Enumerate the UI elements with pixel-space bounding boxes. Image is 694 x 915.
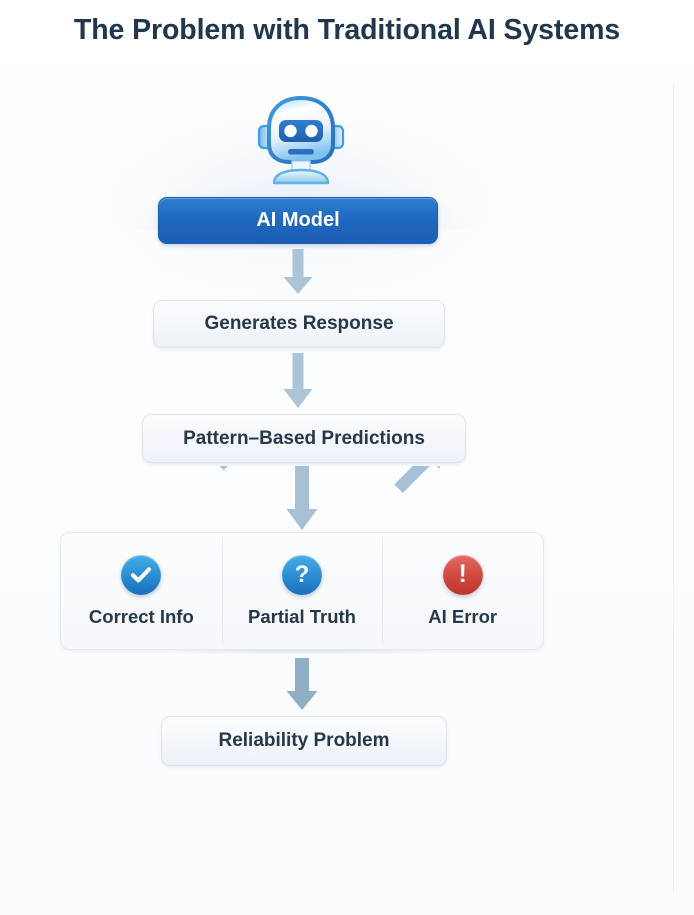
arrow-down-right-icon	[376, 466, 476, 532]
question-glyph: ?	[295, 563, 310, 587]
page-title: The Problem with Traditional AI Systems	[0, 14, 694, 47]
exclamation-circle-icon: !	[443, 555, 483, 595]
arrow-down-icon	[280, 249, 316, 296]
exclamation-glyph: !	[459, 562, 467, 587]
node-pattern-based-predictions[interactable]: Pattern–Based Predictions	[142, 414, 466, 463]
robot-icon	[248, 86, 354, 186]
arrow-down-icon	[284, 466, 320, 532]
panel-shadow	[110, 650, 496, 662]
diagram-canvas: The Problem with Traditional AI Systems	[0, 0, 694, 915]
outcome-correct-info[interactable]: Correct Info	[61, 533, 222, 649]
check-circle-icon	[121, 555, 161, 595]
right-edge-rule	[673, 84, 674, 892]
node-reliability-problem[interactable]: Reliability Problem	[161, 716, 447, 766]
outcome-label: Correct Info	[89, 606, 194, 628]
outcome-partial-truth[interactable]: ? Partial Truth	[222, 533, 383, 649]
question-circle-icon: ?	[282, 555, 322, 595]
arrow-down-icon	[284, 658, 320, 712]
outcome-label: Partial Truth	[248, 606, 356, 628]
outcome-ai-error[interactable]: ! AI Error	[382, 533, 543, 649]
outcome-label: AI Error	[428, 606, 497, 628]
node-generates-response[interactable]: Generates Response	[153, 300, 445, 348]
arrow-down-left-icon	[128, 466, 228, 532]
outcomes-panel: Correct Info ? Partial Truth ! AI Error	[60, 532, 544, 650]
node-ai-model[interactable]: AI Model	[158, 197, 438, 244]
arrow-down-icon	[280, 353, 316, 410]
